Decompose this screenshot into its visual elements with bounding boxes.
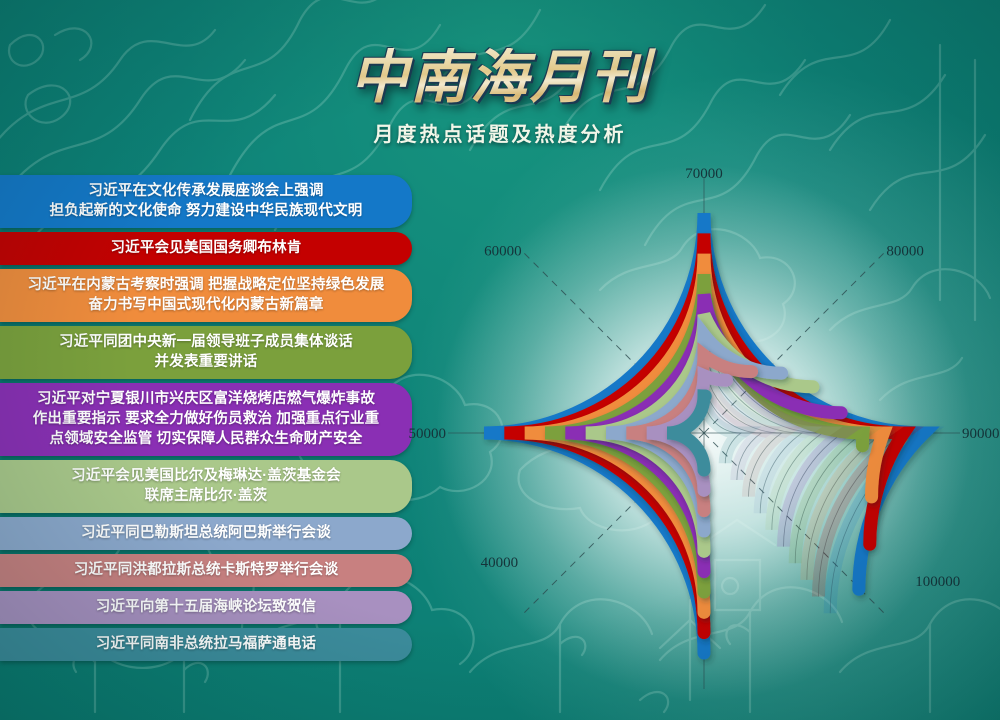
topic-item-line: 习近平对宁夏银川市兴庆区富洋烧烤店燃气爆炸事故	[14, 389, 398, 409]
topic-item-line: 担负起新的文化使命 努力建设中华民族现代文明	[14, 201, 398, 221]
topic-item-line: 奋力书写中国式现代化内蒙古新篇章	[14, 295, 398, 315]
tick-label-80000: 80000	[886, 244, 924, 260]
radial-spiral-chart: 400005000060000700008000090000100000	[404, 0, 1000, 720]
poster-canvas: 中南海月刊 月度热点话题及热度分析 习近平在文化传承发展座谈会上强调担负起新的文…	[0, 0, 1000, 720]
topic-item-10[interactable]: 习近平同南非总统拉马福萨通电话	[0, 628, 412, 661]
topic-item-line: 作出重要指示 要求全力做好伤员救治 加强重点行业重	[14, 409, 398, 429]
topic-item-4[interactable]: 习近平同团中央新一届领导班子成员集体谈话并发表重要讲话	[0, 326, 412, 379]
tick-label-60000: 60000	[484, 244, 522, 260]
topic-item-line: 习近平会见美国国务卿布林肯	[14, 238, 398, 258]
topic-item-8[interactable]: 习近平同洪都拉斯总统卡斯特罗举行会谈	[0, 554, 412, 587]
topic-item-line: 习近平同巴勒斯坦总统阿巴斯举行会谈	[14, 523, 398, 543]
tick-label-40000: 40000	[481, 555, 518, 571]
topic-item-line: 点领域安全监管 切实保障人民群众生命财产安全	[14, 429, 398, 449]
topic-item-line: 习近平同洪都拉斯总统卡斯特罗举行会谈	[14, 560, 398, 580]
topic-item-6[interactable]: 习近平会见美国比尔及梅琳达·盖茨基金会联席主席比尔·盖茨	[0, 460, 412, 513]
topic-item-line: 习近平向第十五届海峡论坛致贺信	[14, 597, 398, 617]
topic-item-line: 习近平同团中央新一届领导班子成员集体谈话	[14, 332, 398, 352]
topic-item-2[interactable]: 习近平会见美国国务卿布林肯	[0, 232, 412, 265]
tick-label-70000: 70000	[685, 166, 723, 182]
topic-item-1[interactable]: 习近平在文化传承发展座谈会上强调担负起新的文化使命 努力建设中华民族现代文明	[0, 175, 412, 228]
topic-legend-list: 习近平在文化传承发展座谈会上强调担负起新的文化使命 努力建设中华民族现代文明习近…	[0, 175, 412, 665]
topic-item-5[interactable]: 习近平对宁夏银川市兴庆区富洋烧烤店燃气爆炸事故作出重要指示 要求全力做好伤员救治…	[0, 383, 412, 456]
topic-item-line: 习近平在内蒙古考察时强调 把握战略定位坚持绿色发展	[14, 275, 398, 295]
topic-item-line: 习近平会见美国比尔及梅琳达·盖茨基金会	[14, 466, 398, 486]
topic-item-3[interactable]: 习近平在内蒙古考察时强调 把握战略定位坚持绿色发展奋力书写中国式现代化内蒙古新篇…	[0, 269, 412, 322]
topic-item-line: 习近平在文化传承发展座谈会上强调	[14, 181, 398, 201]
topic-item-line: 并发表重要讲话	[14, 352, 398, 372]
tick-label-100000: 100000	[915, 574, 960, 590]
topic-item-9[interactable]: 习近平向第十五届海峡论坛致贺信	[0, 591, 412, 624]
tick-label-50000: 50000	[409, 426, 447, 442]
topic-item-line: 习近平同南非总统拉马福萨通电话	[14, 634, 398, 654]
topic-item-line: 联席主席比尔·盖茨	[14, 486, 398, 506]
topic-item-7[interactable]: 习近平同巴勒斯坦总统阿巴斯举行会谈	[0, 517, 412, 550]
tick-label-90000: 90000	[962, 426, 1000, 442]
